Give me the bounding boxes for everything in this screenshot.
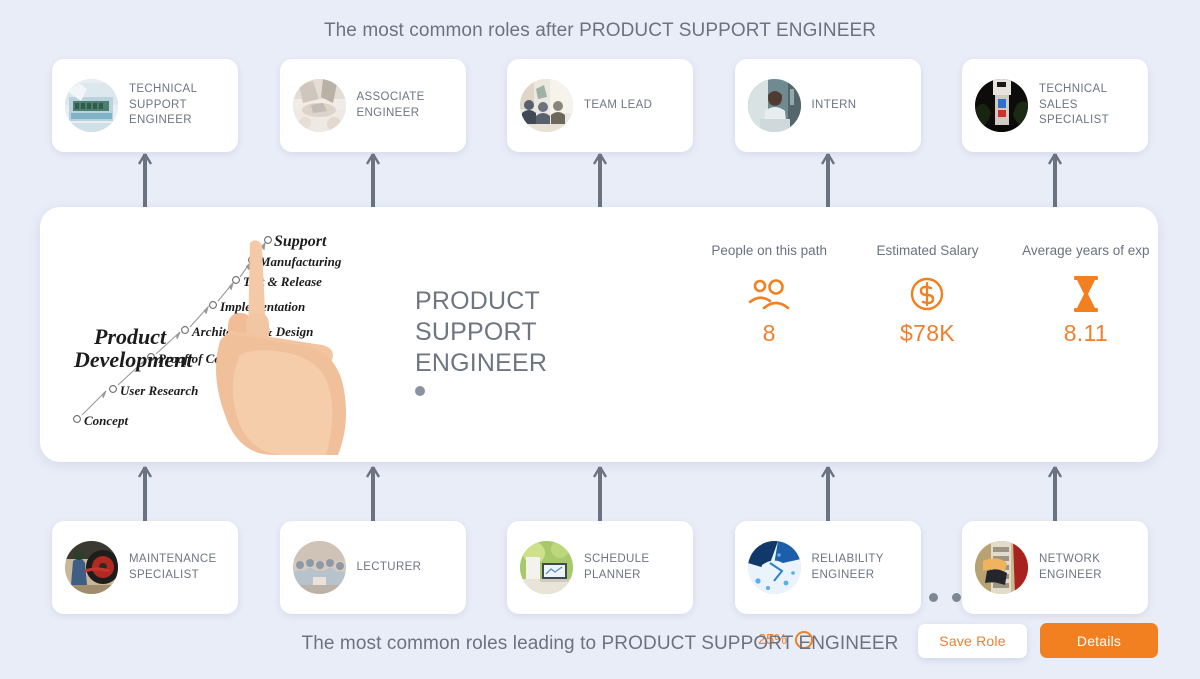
svg-text:Product: Product bbox=[93, 324, 167, 349]
stat-value: $78K bbox=[848, 320, 1006, 347]
role-card-team-lead[interactable]: TEAM LEAD bbox=[507, 59, 693, 152]
connector-arrow-up bbox=[280, 465, 466, 521]
role-card-label: SCHEDULE PLANNER bbox=[584, 552, 683, 583]
stat-average-years-of-exp: Average years of exp 8.11 bbox=[1007, 243, 1165, 347]
connector-arrow-up bbox=[735, 465, 921, 521]
connector-arrow-up bbox=[962, 465, 1148, 521]
role-card-schedule-planner[interactable]: SCHEDULE PLANNER bbox=[507, 521, 693, 614]
role-avatar-team-meeting-photo bbox=[520, 79, 573, 132]
connectors-to-next-roles bbox=[52, 152, 1148, 208]
stat-value: 8.11 bbox=[1007, 320, 1165, 347]
role-card-associate-engineer[interactable]: ASSOCIATE ENGINEER bbox=[280, 59, 466, 152]
role-card-maintenance-specialist[interactable]: MAINTENANCE SPECIALIST bbox=[52, 521, 238, 614]
connector-arrow-up bbox=[507, 465, 693, 521]
stat-value: 8 bbox=[690, 320, 848, 347]
connectors-from-previous-roles bbox=[52, 465, 1148, 521]
role-card-label: TECHNICAL SUPPORT ENGINEER bbox=[129, 82, 228, 129]
role-card-label: RELIABILITY ENGINEER bbox=[812, 552, 911, 583]
next-roles-row: TECHNICAL SUPPORT ENGINEER ASSOCIATE ENG… bbox=[52, 59, 1148, 152]
stat-people-on-this-path: People on this path 8 bbox=[690, 243, 848, 347]
role-card-technical-sales-specialist[interactable]: TECHNICAL SALES SPECIALIST bbox=[962, 59, 1148, 152]
page-title-bottom: The most common roles leading to PRODUCT… bbox=[0, 633, 1200, 655]
svg-text:User Research: User Research bbox=[120, 383, 198, 398]
detail-role-title-block: PRODUCT SUPPORT ENGINEER bbox=[415, 286, 645, 396]
previous-roles-row: MAINTENANCE SPECIALIST bbox=[52, 521, 1148, 614]
connector-arrow-up bbox=[52, 465, 238, 521]
role-card-intern[interactable]: INTERN bbox=[735, 59, 921, 152]
role-avatar-blue-tech-photo bbox=[748, 541, 801, 594]
role-card-network-engineer[interactable]: NETWORK ENGINEER bbox=[962, 521, 1148, 614]
product-development-illustration: Product Development Support Manufacturin… bbox=[60, 215, 405, 455]
page-title: PRODUCT SUPPORT ENGINEER bbox=[415, 286, 645, 379]
people-icon bbox=[690, 274, 848, 314]
role-card-label: LECTURER bbox=[357, 560, 422, 576]
stat-estimated-salary: Estimated Salary $78K bbox=[848, 243, 1006, 347]
role-avatar-lecture-hall-photo bbox=[293, 541, 346, 594]
role-stats: People on this path 8 Estimated Salary bbox=[690, 243, 1165, 347]
page-title-top: The most common roles after PRODUCT SUPP… bbox=[0, 20, 1200, 42]
role-card-lecturer[interactable]: LECTURER bbox=[280, 521, 466, 614]
connector-arrow-up bbox=[507, 152, 693, 208]
connector-arrow-up bbox=[280, 152, 466, 208]
stat-label: People on this path bbox=[690, 243, 848, 258]
connector-arrow-up bbox=[52, 152, 238, 208]
dollar-circle-icon bbox=[848, 274, 1006, 314]
role-avatar-server-rack-photo bbox=[975, 541, 1028, 594]
connector-arrow-up bbox=[735, 152, 921, 208]
svg-text:Support: Support bbox=[274, 233, 327, 250]
role-avatar-dark-equipment-photo bbox=[975, 79, 1028, 132]
role-avatar-worker-machinery-photo bbox=[65, 541, 118, 594]
role-detail-card: Product Development Support Manufacturin… bbox=[40, 207, 1158, 462]
role-card-label: TEAM LEAD bbox=[584, 98, 652, 114]
role-avatar-meeting-handshake-photo bbox=[293, 79, 346, 132]
role-avatar-laptop-desk-photo bbox=[520, 541, 573, 594]
role-card-technical-support-engineer[interactable]: TECHNICAL SUPPORT ENGINEER bbox=[52, 59, 238, 152]
role-card-label: NETWORK ENGINEER bbox=[1039, 552, 1138, 583]
hourglass-icon bbox=[1007, 274, 1165, 314]
role-avatar-woman-at-desk-photo bbox=[748, 79, 801, 132]
role-status-dot bbox=[415, 386, 425, 396]
role-card-label: MAINTENANCE SPECIALIST bbox=[129, 552, 228, 583]
role-card-label: TECHNICAL SALES SPECIALIST bbox=[1039, 82, 1138, 129]
stat-label: Estimated Salary bbox=[848, 243, 1006, 258]
svg-text:Manufacturing: Manufacturing bbox=[258, 254, 342, 269]
stat-label: Average years of exp bbox=[1007, 243, 1165, 258]
role-card-label: INTERN bbox=[812, 98, 857, 114]
connector-arrow-up bbox=[962, 152, 1148, 208]
role-card-reliability-engineer[interactable]: RELIABILITY ENGINEER bbox=[735, 521, 921, 614]
role-avatar-lab-equipment-photo bbox=[65, 79, 118, 132]
role-card-label: ASSOCIATE ENGINEER bbox=[357, 90, 456, 121]
svg-text:Concept: Concept bbox=[84, 413, 128, 428]
